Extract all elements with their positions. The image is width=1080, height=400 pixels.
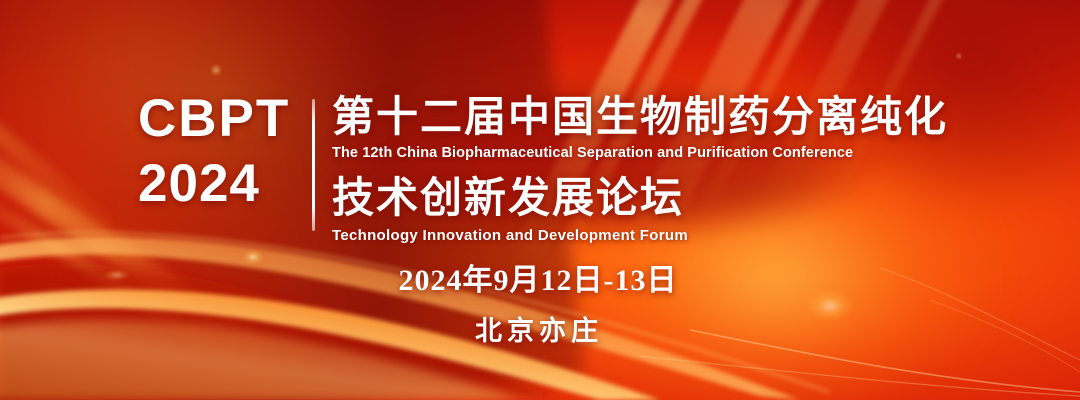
title-english-secondary: Technology Innovation and Development Fo… <box>332 227 948 244</box>
banner-content: CBPT 2024 第十二届中国生物制药分离纯化 The 12th China … <box>0 0 1080 400</box>
logo-title-divider <box>312 99 315 231</box>
conference-banner: CBPT 2024 第十二届中国生物制药分离纯化 The 12th China … <box>0 0 1080 400</box>
logo-line-2: 2024 <box>138 157 298 210</box>
title-block: 第十二届中国生物制药分离纯化 The 12th China Biopharmac… <box>332 96 948 244</box>
title-chinese-secondary: 技术创新发展论坛 <box>332 177 948 221</box>
event-logo: CBPT 2024 <box>138 92 298 210</box>
title-english-primary: The 12th China Biopharmaceutical Separat… <box>332 145 948 161</box>
event-location: 北京亦庄 <box>0 309 1079 348</box>
event-date: 2024年9月12日-13日 <box>399 255 678 299</box>
event-meta: 2024年9月12日-13日 北京亦庄 <box>0 255 1079 348</box>
title-chinese-primary: 第十二届中国生物制药分离纯化 <box>332 96 948 140</box>
logo-line-1: CBPT <box>138 92 298 145</box>
